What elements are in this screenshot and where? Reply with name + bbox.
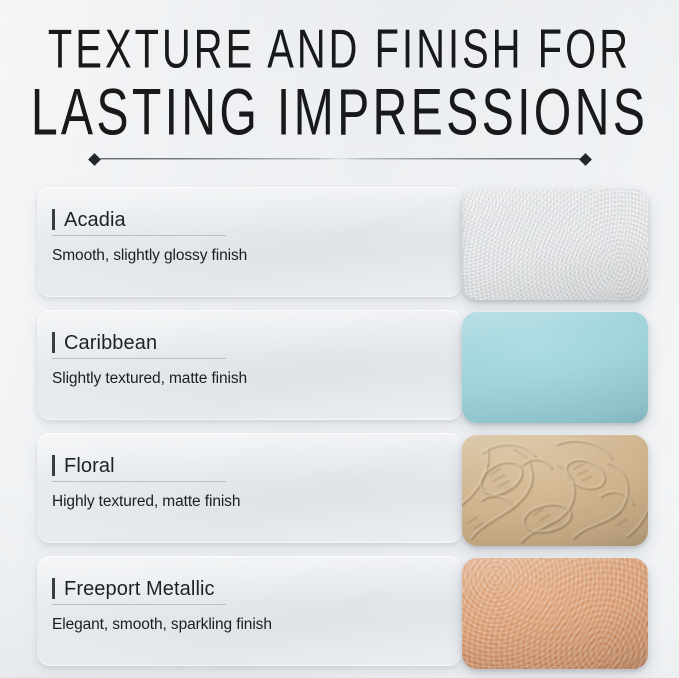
swatch-color-fill	[462, 189, 648, 300]
swatch-name-underline: Acadia	[52, 209, 226, 236]
swatch-info-card[interactable]: Caribbean Slightly textured, matte finis…	[37, 310, 462, 420]
swatch-name: Freeport Metallic	[64, 579, 215, 599]
accent-bar-icon	[52, 578, 55, 599]
swatch-info-body: Acadia Smooth, slightly glossy finish	[37, 187, 462, 265]
swatch-name-row: Floral	[52, 455, 226, 476]
divider-line	[96, 158, 584, 159]
swatch-info-body: Floral Highly textured, matte finish	[37, 433, 462, 511]
swatch-name-underline: Floral	[52, 455, 226, 482]
accent-bar-icon	[52, 332, 55, 353]
swatch-name-row: Freeport Metallic	[52, 578, 226, 599]
swatch-row-list: Acadia Smooth, slightly glossy finish Ca…	[0, 187, 679, 668]
swatch-color-fill	[462, 558, 648, 669]
swatch-name-row: Acadia	[52, 209, 226, 230]
poster-canvas: TEXTURE AND FINISH FOR LASTING IMPRESSIO…	[0, 0, 679, 678]
swatch-sample-acadia[interactable]	[462, 189, 648, 300]
swatch-name-underline: Caribbean	[52, 332, 226, 359]
swatch-description: Slightly textured, matte finish	[52, 370, 462, 388]
swatch-name: Caribbean	[64, 333, 157, 353]
poster-header: TEXTURE AND FINISH FOR LASTING IMPRESSIO…	[0, 0, 679, 165]
swatch-description: Elegant, smooth, sparkling finish	[52, 616, 462, 634]
poster-title-line-1: TEXTURE AND FINISH FOR	[10, 22, 669, 77]
swatch-color-fill	[462, 312, 648, 423]
swatch-name: Acadia	[64, 210, 126, 230]
diamond-cap-right-icon	[579, 153, 592, 166]
swatch-row[interactable]: Acadia Smooth, slightly glossy finish	[0, 187, 679, 299]
accent-bar-icon	[52, 209, 55, 230]
swatch-sample-floral[interactable]	[462, 435, 648, 546]
poster-title-line-2: LASTING IMPRESSIONS	[12, 79, 667, 145]
swatch-sample-freeport-metallic[interactable]	[462, 558, 648, 669]
swatch-name: Floral	[64, 456, 115, 476]
swatch-description: Highly textured, matte finish	[52, 493, 462, 511]
swatch-info-card[interactable]: Floral Highly textured, matte finish	[37, 433, 462, 543]
swatch-sample-caribbean[interactable]	[462, 312, 648, 423]
swatch-info-card[interactable]: Acadia Smooth, slightly glossy finish	[37, 187, 462, 297]
swatch-info-body: Caribbean Slightly textured, matte finis…	[37, 310, 462, 388]
swatch-name-underline: Freeport Metallic	[52, 578, 226, 605]
swatch-row[interactable]: Freeport Metallic Elegant, smooth, spark…	[0, 556, 679, 668]
swatch-info-card[interactable]: Freeport Metallic Elegant, smooth, spark…	[37, 556, 462, 666]
floral-pattern-icon	[462, 435, 648, 546]
swatch-row[interactable]: Floral Highly textured, matte finish	[0, 433, 679, 545]
swatch-description: Smooth, slightly glossy finish	[52, 247, 462, 265]
swatch-name-row: Caribbean	[52, 332, 226, 353]
accent-bar-icon	[52, 455, 55, 476]
swatch-info-body: Freeport Metallic Elegant, smooth, spark…	[37, 556, 462, 634]
swatch-row[interactable]: Caribbean Slightly textured, matte finis…	[0, 310, 679, 422]
title-divider	[90, 153, 590, 165]
